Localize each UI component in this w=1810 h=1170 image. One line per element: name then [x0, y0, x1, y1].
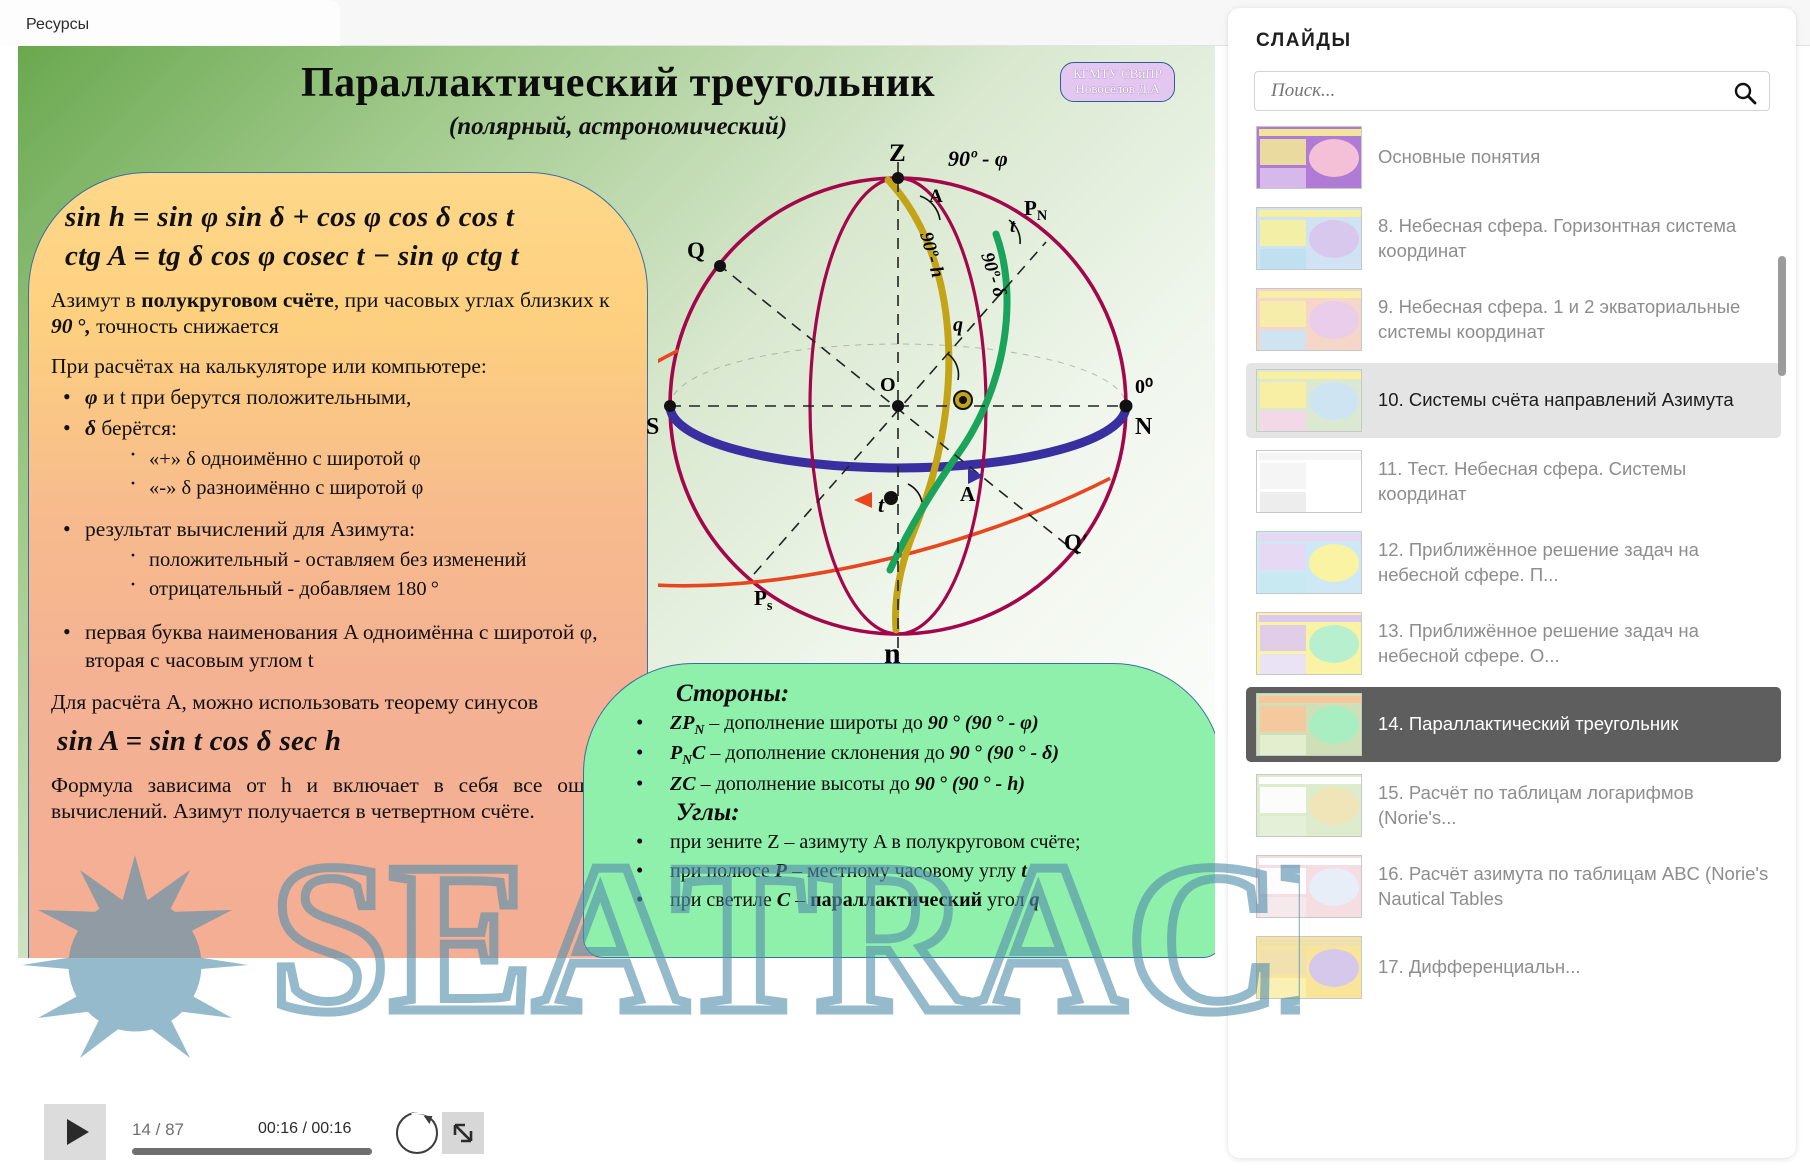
azimuth-text-1: Азимут в	[51, 288, 141, 312]
result-bullet-list: результат вычислений для Азимута: положи…	[55, 516, 629, 603]
slides-panel-heading: СЛАЙДЫ	[1256, 30, 1352, 52]
bullet-result-text: результат вычислений для Азимута:	[85, 517, 415, 541]
label-angle-t-top: t	[1010, 216, 1015, 238]
search-input[interactable]	[1271, 72, 1711, 110]
label-angle-t-bottom: t	[878, 492, 884, 518]
calc-intro-paragraph: При расчётах на калькуляторе или компьют…	[51, 353, 629, 379]
slides-list[interactable]: Основные понятия8. Небесная сфера. Гориз…	[1246, 120, 1781, 1150]
slide-list-item-5[interactable]: 12. Приближённое решение задач на небесн…	[1246, 525, 1781, 600]
fullscreen-icon	[442, 1112, 484, 1154]
azimuth-degree: 90 °,	[51, 314, 91, 338]
slide-thumbnail	[1256, 450, 1362, 513]
azimuth-bold: полукруговом счёте	[141, 288, 334, 312]
slide-list-item-4[interactable]: 11. Тест. Небесная сфера. Системы коорди…	[1246, 444, 1781, 519]
slide-title: Параллактический треугольник	[138, 59, 1098, 107]
sub-positive-item: положительный - оставляем без изменений	[123, 547, 629, 574]
play-icon	[67, 1119, 89, 1145]
slide-list-item-label: 13. Приближённое решение задач на небесн…	[1378, 619, 1771, 668]
slide-list-item-label: 12. Приближённое решение задач на небесн…	[1378, 538, 1771, 587]
slide-thumbnail	[1256, 207, 1362, 270]
bullet-delta-text: берётся:	[96, 416, 177, 440]
slide-list-item-label: 14. Параллактический треугольник	[1378, 712, 1678, 737]
slide-list-item-8[interactable]: 15. Расчёт по таблицам логарифмов (Norie…	[1246, 768, 1781, 843]
panel-scrollbar-track[interactable]	[1778, 256, 1786, 1136]
bullet-phi-text: и t при берутся положительными,	[98, 385, 412, 409]
azimuth-text-2: , при часовых углах близких к	[334, 288, 610, 312]
label-pole-south: Ps	[754, 586, 772, 615]
label-q-right: Q′	[1064, 530, 1088, 556]
angle-item-star: при светиле C – параллактический угол q	[618, 888, 1200, 914]
slide-thumbnail	[1256, 693, 1362, 756]
azimuth-paragraph: Азимут в полукруговом счёте, при часовых…	[51, 287, 629, 339]
sides-list: ZPN – дополнение широты до 90 ° (90 ° - …	[618, 711, 1200, 797]
progress-bar[interactable]	[132, 1148, 372, 1155]
slide-list-item-label: Основные понятия	[1378, 145, 1540, 170]
calc-bullet-list: φ и t при берутся положительными, δ берё…	[55, 384, 629, 502]
slide-list-item-10[interactable]: 17. Дифференциальн...	[1246, 930, 1781, 1005]
bullet-first-letter: первая буква наименования A одноимённа с…	[55, 619, 629, 675]
slide-thumbnail	[1256, 936, 1362, 999]
label-zenith: Z	[889, 140, 906, 168]
slide-stage[interactable]: Параллактический треугольник (полярный, …	[18, 46, 1215, 1170]
slide-list-item-label: 15. Расчёт по таблицам логарифмов (Norie…	[1378, 781, 1771, 830]
azimuth-text-3: точность снижается	[91, 314, 279, 338]
search-box[interactable]	[1254, 71, 1770, 111]
sine-theorem-paragraph: Для расчёта A, можно использовать теорем…	[51, 689, 629, 715]
label-pole-north: PN	[1024, 196, 1047, 225]
bullet-phi-t: φ и t при берутся положительными,	[55, 384, 629, 412]
slide-list-item-label: 8. Небесная сфера. Горизонтная система к…	[1378, 214, 1771, 263]
slide-thumbnail	[1256, 855, 1362, 918]
angles-heading: Углы:	[676, 799, 1200, 827]
slide-thumbnail	[1256, 774, 1362, 837]
bullet-phi-symbol: φ	[85, 385, 98, 409]
label-south: S	[646, 414, 659, 441]
formula-sin-h: sin h = sin φ sin δ + cos φ cos δ cos t	[65, 201, 629, 234]
label-north: N	[1135, 414, 1152, 441]
replay-icon[interactable]	[396, 1112, 438, 1154]
bullet-delta-symbol: δ	[85, 416, 96, 440]
time-display: 00:16 / 00:16	[258, 1120, 351, 1138]
final-paragraph: Формула зависима от h и включает в себя …	[51, 772, 629, 824]
search-icon[interactable]	[1733, 81, 1757, 110]
slides-panel: СЛАЙДЫ Основные понятия8. Небесная сфера…	[1228, 8, 1796, 1158]
slide-list-item-2[interactable]: 9. Небесная сфера. 1 и 2 экваториальные …	[1246, 282, 1781, 357]
angle-item-pole: при полюсе P – местному часовому углу t	[618, 859, 1200, 885]
panel-scrollbar-thumb[interactable]	[1778, 256, 1786, 376]
result-sub-list: положительный - оставляем без изменений …	[123, 547, 629, 603]
sphere-svg	[658, 134, 1188, 679]
letter-bullet-list: первая буква наименования A одноимённа с…	[55, 619, 629, 675]
formula-sin-a: sin A = sin t cos δ sec h	[57, 725, 629, 758]
replay-arrow-icon	[424, 1112, 435, 1124]
slide-list-item-6[interactable]: 13. Приближённое решение задач на небесн…	[1246, 606, 1781, 681]
bullet-result: результат вычислений для Азимута: положи…	[55, 516, 629, 603]
progress-fill	[132, 1148, 372, 1155]
label-angle-a-bottom: A	[960, 482, 975, 507]
label-angle-q: q	[953, 314, 963, 337]
slide-list-item-label: 10. Системы счёта направлений Азимута	[1378, 388, 1734, 413]
angles-list: при зените Z – азимуту A в полукруговом …	[618, 830, 1200, 913]
slide-list-item-7[interactable]: 14. Параллактический треугольник	[1246, 687, 1781, 762]
author-name: Новосёлов Д.А	[1073, 82, 1162, 97]
slide-list-item-label: 17. Дифференциальн...	[1378, 955, 1581, 980]
author-org: КГМТУ СВиПР	[1073, 67, 1162, 82]
side-item-zpn: ZPN – дополнение широты до 90 ° (90 ° - …	[618, 711, 1200, 738]
resources-tab-label[interactable]: Ресурсы	[26, 16, 89, 34]
label-arc-90-phi: 90º - φ	[948, 146, 1008, 172]
player-controls: 14 / 87 00:16 / 00:16	[36, 1096, 1215, 1170]
slide-thumbnail	[1256, 126, 1362, 189]
slide-thumbnail	[1256, 612, 1362, 675]
label-q-left: Q	[687, 238, 705, 264]
angle-item-zenith: при зените Z – азимуту A в полукруговом …	[618, 830, 1200, 856]
label-angle-a-top: A	[929, 186, 943, 208]
sub-plus-item: «+» δ одноимённо с широтой φ	[123, 446, 629, 473]
label-east-degree: 0⁰	[1135, 374, 1153, 399]
celestial-sphere-figure: Z n N S 0⁰ Q Q′ O PN Ps 90º - φ 90º- h 9…	[658, 134, 1188, 679]
slide-canvas: Параллактический треугольник (полярный, …	[18, 46, 1215, 958]
slide-thumbnail	[1256, 531, 1362, 594]
slide-list-item-0[interactable]: Основные понятия	[1246, 120, 1781, 195]
delta-sub-list: «+» δ одноимённо с широтой φ «-» δ разно…	[123, 446, 629, 502]
sub-negative-item: отрицательный - добавляем 180 °	[123, 576, 629, 603]
sides-angles-callout: Стороны: ZPN – дополнение широты до 90 °…	[583, 663, 1215, 958]
side-item-zc: ZC – дополнение высоты до 90 ° (90 ° - h…	[618, 772, 1200, 798]
slide-thumbnail	[1256, 288, 1362, 351]
bullet-delta: δ берётся: «+» δ одноимённо с широтой φ …	[55, 415, 629, 502]
label-center-o: O	[880, 374, 896, 397]
slide-list-item-label: 16. Расчёт азимута по таблицам ABC (Nori…	[1378, 862, 1771, 911]
side-item-pnc: PNC – дополнение склонения до 90 ° (90 °…	[618, 741, 1200, 768]
formula-ctg-a: ctg A = tg δ cos φ cosec t − sin φ ctg t	[65, 240, 629, 273]
slide-counter: 14 / 87	[132, 1120, 184, 1140]
left-content-panel: sin h = sin φ sin δ + cos φ cos δ cos t …	[28, 172, 648, 958]
sides-heading: Стороны:	[676, 680, 1200, 708]
author-badge: КГМТУ СВиПР Новосёлов Д.А	[1060, 62, 1175, 102]
fullscreen-button[interactable]	[442, 1112, 484, 1154]
slide-thumbnail	[1256, 369, 1362, 432]
play-button[interactable]	[44, 1104, 106, 1160]
slide-list-item-label: 9. Небесная сфера. 1 и 2 экваториальные …	[1378, 295, 1771, 344]
slide-list-item-3[interactable]: 10. Системы счёта направлений Азимута	[1246, 363, 1781, 438]
slide-list-item-1[interactable]: 8. Небесная сфера. Горизонтная система к…	[1246, 201, 1781, 276]
slide-list-item-label: 11. Тест. Небесная сфера. Системы коорди…	[1378, 457, 1771, 506]
slide-list-item-9[interactable]: 16. Расчёт азимута по таблицам ABC (Nori…	[1246, 849, 1781, 924]
sub-minus-item: «-» δ разноимённо с широтой φ	[123, 475, 629, 502]
